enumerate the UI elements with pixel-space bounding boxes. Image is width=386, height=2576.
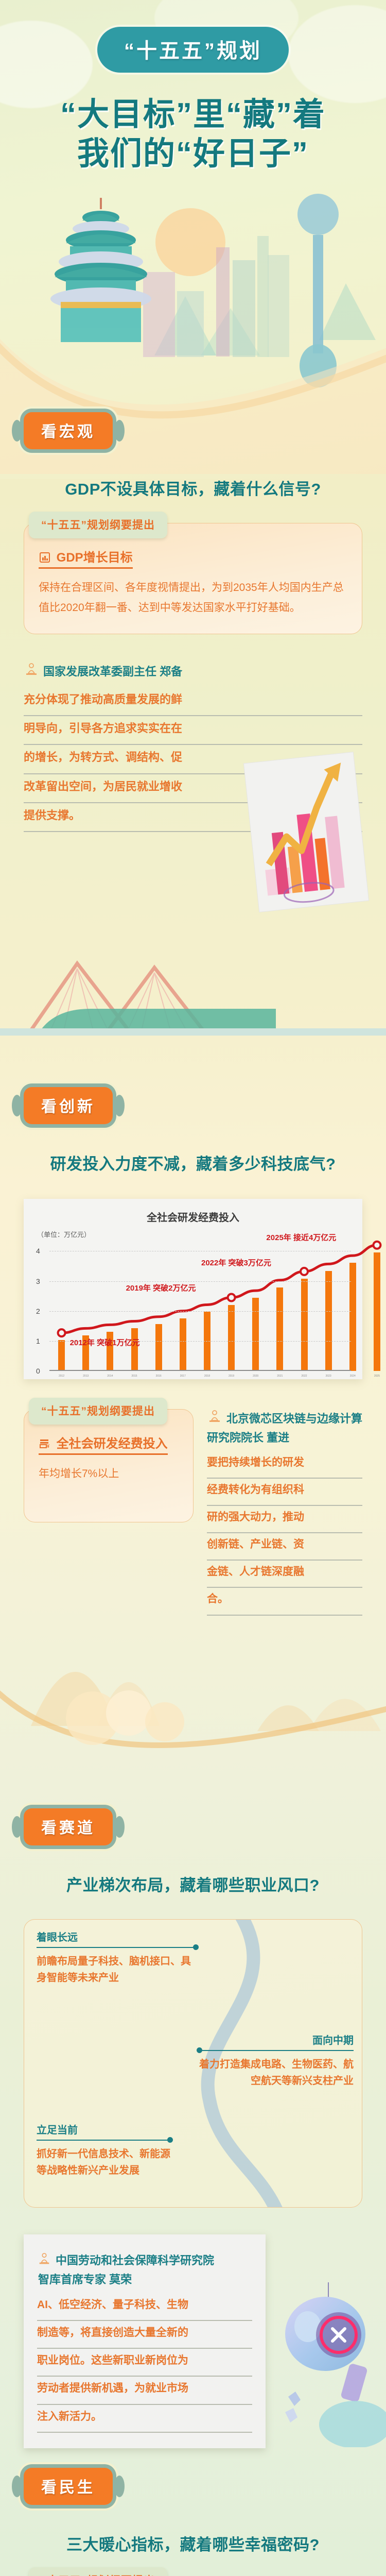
rd-investment-chart: 全社会研发经费投入 （单位：万亿元） 201220132014201520162… [24, 1199, 362, 1379]
mountain-cloud-decoration [0, 1602, 386, 1772]
pill-title: “十五五”规划 [97, 27, 289, 73]
section-tag-macro: 看宏观 [24, 412, 113, 449]
chart-x-tick: 2012 [59, 1375, 64, 1378]
chart-annotation: 2019年 突破2万亿元 [126, 1282, 196, 1293]
section-question-innovation: 研发投入力度不减，藏着多少科技底气? [24, 1151, 362, 1174]
quote-line: 创新链、产业链、资 [207, 1533, 362, 1561]
quote-line: 要把持续增长的研发 [207, 1451, 362, 1479]
chart-bar [252, 1298, 259, 1371]
macro-expert-title-text: 国家发展改革委副主任 郑备 [43, 665, 182, 678]
quote-line: 制造等，将直接创造大量全新的 [37, 2321, 252, 2349]
quote-line: 金链、人才链深度融 [207, 1561, 362, 1588]
chart-bars: 2012201320142015201620172018201920202021… [49, 1242, 351, 1371]
quote-line: AI、低空经济、量子科技、生物 [37, 2293, 252, 2321]
section-tag-livelihood: 看民生 [24, 2468, 113, 2505]
chart-annotation: 2012年 突破1万亿元 [70, 1337, 140, 1348]
chart-annotation: 2025年 接近4万亿元 [266, 1232, 336, 1243]
speaker-podium-icon [37, 2252, 51, 2271]
svg-text:¥: ¥ [47, 1444, 49, 1449]
track-expert-note: 中国劳动和社会保障科学研究院 智库首席专家 莫荣 AI、低空经济、量子科技、生物… [24, 2234, 266, 2448]
chart-x-tick: 2017 [180, 1375, 186, 1378]
speaker-podium-icon [24, 662, 39, 682]
industry-stages-card: 着眼长远 前瞻布局量子科技、脑机接口、具身智能等未来产业 面向中期 着力打造集成… [24, 1919, 362, 2208]
track-expert-title-line2: 智库首席专家 莫荣 [37, 2271, 252, 2288]
chart-x-tick: 2014 [107, 1375, 113, 1378]
money-stack-yuan-icon: ¥ [39, 1437, 55, 1451]
stage-body: 前瞻布局量子科技、脑机接口、具身智能等未来产业 [37, 1953, 196, 1986]
section-question-livelihood: 三大暖心指标，藏着哪些幸福密码? [24, 2532, 362, 2555]
chart-y-tick: 0 [36, 1367, 40, 1375]
stage-rule [199, 2050, 354, 2051]
growth-chart-illustration [242, 742, 371, 922]
chart-bar [349, 1263, 356, 1371]
chart-x-tick: 2015 [131, 1375, 137, 1378]
section-question-macro: GDP不设具体目标，藏着什么信号? [24, 476, 362, 499]
quote-line: 明导向，引导各方追求实实在在 [24, 716, 362, 745]
chart-y-tick: 3 [36, 1277, 40, 1285]
quote-line: 经费转化为有组织科 [207, 1479, 362, 1506]
chart-bar [276, 1287, 283, 1371]
chart-bar [228, 1305, 235, 1371]
quote-line: 注入新活力。 [37, 2405, 252, 2433]
chart-x-tick: 2021 [277, 1375, 283, 1378]
stage-body: 着力打造集成电路、生物医药、航空航天等新兴支柱产业 [199, 2056, 354, 2089]
chart-bar [374, 1252, 380, 1371]
chart-x-tick: 2025 [374, 1375, 380, 1378]
poster-header: “十五五”规划 “大目标”里“藏”着 我们的“好日子” [0, 0, 386, 173]
innovation-card-body: 年均增长7%以上 [39, 1464, 179, 1484]
quote-line: 劳动者提供新机遇，为就业市场 [37, 2377, 252, 2404]
rd-funding-label-text: 全社会研发经费投入 [57, 1437, 168, 1451]
stage-title: 立足当前 [37, 2122, 170, 2137]
infographic-poster: “十五五”规划 “大目标”里“藏”着 我们的“好日子” [0, 0, 386, 2576]
section-innovation: 看创新 研发投入力度不减，藏着多少科技底气? 全社会研发经费投入 （单位：万亿元… [0, 1087, 386, 1616]
chart-gridline [49, 1311, 351, 1312]
chart-annotation: 2022年 突破3万亿元 [201, 1257, 271, 1268]
innovation-expert-quote-body: 要把持续增长的研发 经费转化为有组织科 研的强大动力，推动 创新链、产业链、资 … [207, 1451, 362, 1616]
page-title: “大目标”里“藏”着 我们的“好日子” [0, 95, 386, 173]
chart-x-tick: 2024 [350, 1375, 356, 1378]
page-title-line1: “大目标”里“藏”着 [0, 95, 386, 134]
track-expert-title: 中国劳动和社会保障科学研究院 智库首席专家 莫荣 [37, 2252, 252, 2288]
innovation-expert-title-text: 北京微芯区块链与边缘计算研究院院长 董进 [207, 1412, 362, 1444]
livelihood-banner: “十五五”规划纲要提出 [29, 2567, 167, 2576]
stage-rule [37, 2140, 170, 2141]
innovation-card-wrap: “十五五”规划纲要提出 ¥ 全社会研发经费投入 [24, 1409, 194, 1522]
chart-y-tick: 1 [36, 1337, 40, 1345]
clipboard-bar-chart-icon [39, 551, 55, 565]
chart-gridline [49, 1251, 351, 1251]
gdp-growth-target-label: GDP增长目标 [39, 547, 133, 569]
chart-x-tick: 2019 [229, 1375, 234, 1378]
chart-bar [180, 1318, 186, 1371]
stage-current: 立足当前 抓好新一代信息技术、新能源等战略性新兴产业发展 [37, 2122, 170, 2179]
section-tag-innovation: 看创新 [24, 1087, 113, 1124]
quote-line: 充分体现了推动高质量发展的鲜 [24, 687, 362, 716]
stage-long-term: 着眼长远 前瞻布局量子科技、脑机接口、具身智能等未来产业 [37, 1929, 196, 1986]
chart-bar [131, 1328, 138, 1371]
macro-card-wrap: “十五五”规划纲要提出 GDP增长目标 保持在合理区间、各年度视情提出，为到20… [24, 523, 362, 634]
chart-x-tick: 2016 [156, 1375, 162, 1378]
section-livelihood: 看民生 三大暖心指标，藏着哪些幸福密码? “十五五”规划纲要提出 [0, 2468, 386, 2576]
innovation-card: ¥ 全社会研发经费投入 年均增长7%以上 [24, 1409, 194, 1522]
stage-title: 面向中期 [199, 2032, 354, 2047]
chart-x-tick: 2022 [301, 1375, 307, 1378]
chart-x-tick: 2023 [326, 1375, 331, 1378]
innovation-banner: “十五五”规划纲要提出 [29, 1398, 167, 1425]
chart-y-tick: 4 [36, 1247, 40, 1255]
robot-head-illustration [268, 2277, 386, 2447]
stage-rule [37, 1947, 196, 1948]
chart-bar [155, 1324, 162, 1371]
stage-title: 着眼长远 [37, 1929, 196, 1944]
chart-bar [325, 1271, 332, 1371]
chart-x-tick: 2020 [253, 1375, 258, 1378]
macro-card-body: 保持在合理区间、各年度视情提出，为到2035年人均国内生产总值比2020年翻一番… [39, 578, 347, 618]
chart-bar [301, 1279, 308, 1371]
chart-bar [58, 1340, 65, 1371]
rd-funding-label: ¥ 全社会研发经费投入 [39, 1433, 168, 1455]
chart-y-tick: 2 [36, 1307, 40, 1315]
chart-data-point [373, 1242, 380, 1249]
track-expert-title-line1: 中国劳动和社会保障科学研究院 [56, 2254, 214, 2267]
section-tag-track: 看赛道 [24, 1808, 113, 1845]
stage-mid-term: 面向中期 着力打造集成电路、生物医药、航空航天等新兴支柱产业 [199, 2032, 354, 2089]
quote-line: 职业岗位。这些新职业新岗位为 [37, 2349, 252, 2377]
gdp-growth-target-text: GDP增长目标 [57, 551, 133, 565]
chart-title: 全社会研发经费投入 [32, 1209, 354, 1224]
chart-x-axis [49, 1370, 351, 1371]
chart-gridline [49, 1281, 351, 1282]
page-title-line2: 我们的“好日子” [0, 134, 386, 174]
macro-banner: “十五五”规划纲要提出 [29, 512, 167, 538]
track-expert-quote-body: AI、低空经济、量子科技、生物 制造等，将直接创造大量全新的 职业岗位。这些新职… [37, 2293, 252, 2433]
chart-x-tick: 2018 [204, 1375, 210, 1378]
stage-body: 抓好新一代信息技术、新能源等战略性新兴产业发展 [37, 2146, 170, 2179]
section-question-track: 产业梯次布局，藏着哪些职业风口? [24, 1872, 362, 1895]
chart-x-tick: 2013 [83, 1375, 89, 1378]
macro-card: GDP增长目标 保持在合理区间、各年度视情提出，为到2035年人均国内生产总值比… [24, 523, 362, 634]
innovation-expert-title: 北京微芯区块链与边缘计算研究院院长 董进 [207, 1409, 362, 1446]
speaker-podium-icon [207, 1409, 222, 1429]
macro-expert-title: 国家发展改革委副主任 郑备 [24, 662, 362, 682]
quote-line: 合。 [207, 1588, 362, 1615]
quote-line: 研的强大动力，推动 [207, 1506, 362, 1533]
bridge-train-illustration [0, 912, 386, 1036]
chart-plot-area: 2012201320142015201620172018201920202021… [49, 1242, 351, 1371]
